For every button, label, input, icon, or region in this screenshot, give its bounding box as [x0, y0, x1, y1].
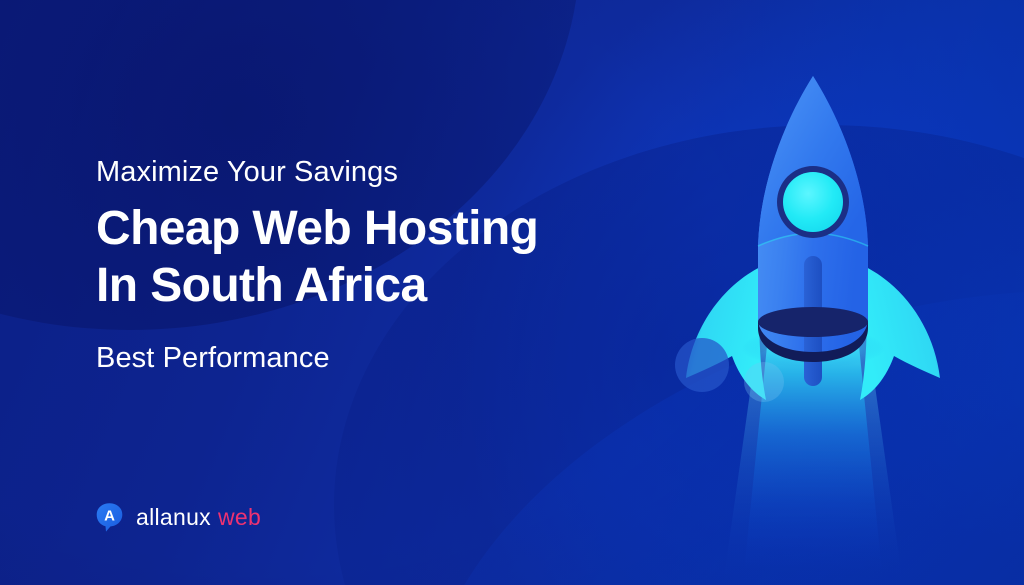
rocket-window: [777, 166, 849, 238]
brand-logo[interactable]: A allanux web: [94, 502, 261, 533]
logo-mark-letter: A: [104, 507, 115, 524]
headline-line-2: In South Africa: [96, 258, 656, 315]
logo-wordmark: allanux web: [136, 506, 261, 529]
logo-word-secondary: web: [218, 506, 261, 529]
eyebrow-text: Maximize Your Savings: [96, 158, 656, 187]
bubble-inner: [744, 362, 784, 402]
rocket-right-fin: [860, 266, 940, 400]
rocket-launch-illustration: [648, 60, 978, 585]
headline-block: Maximize Your Savings Cheap Web Hosting …: [96, 158, 656, 373]
subline-text: Best Performance: [96, 344, 656, 373]
page-title: Cheap Web Hosting In South Africa: [96, 201, 656, 314]
logo-word-primary: allanux: [136, 506, 211, 529]
bubble-left: [675, 338, 729, 392]
promo-banner: Maximize Your Savings Cheap Web Hosting …: [0, 0, 1024, 585]
headline-line-1: Cheap Web Hosting: [96, 201, 656, 258]
logo-mark-icon: A: [94, 502, 125, 533]
